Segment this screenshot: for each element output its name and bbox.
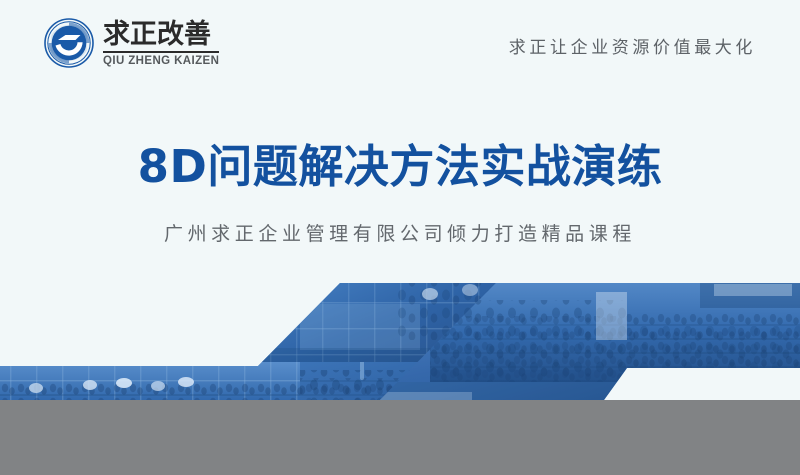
circular-swoosh-emblem-icon [44, 18, 94, 68]
course-title: 8D问题解决方法实战演练 [0, 140, 800, 193]
poster-header: 求正改善 QIU ZHENG KAIZEN 求正让企业资源价值最大化 [0, 0, 800, 92]
brand-divider-rule [103, 51, 219, 53]
gray-footer-band [0, 400, 800, 475]
title-block: 8D问题解决方法实战演练 广州求正企业管理有限公司倾力打造精品课程 [0, 140, 800, 246]
brand-logo: 求正改善 QIU ZHENG KAIZEN [44, 18, 219, 68]
photo-lecture-hall-right-edge [620, 270, 800, 380]
company-tagline: 求正让企业资源价值最大化 [509, 33, 756, 58]
brand-name-en: QIU ZHENG KAIZEN [103, 55, 219, 68]
brand-name-cn: 求正改善 [103, 21, 219, 49]
poster-canvas: 求正改善 QIU ZHENG KAIZEN 求正让企业资源价值最大化 8D问题解… [0, 0, 800, 475]
brand-wordmark: 求正改善 QIU ZHENG KAIZEN [103, 19, 219, 68]
course-subtitle: 广州求正企业管理有限公司倾力打造精品课程 [0, 219, 800, 246]
